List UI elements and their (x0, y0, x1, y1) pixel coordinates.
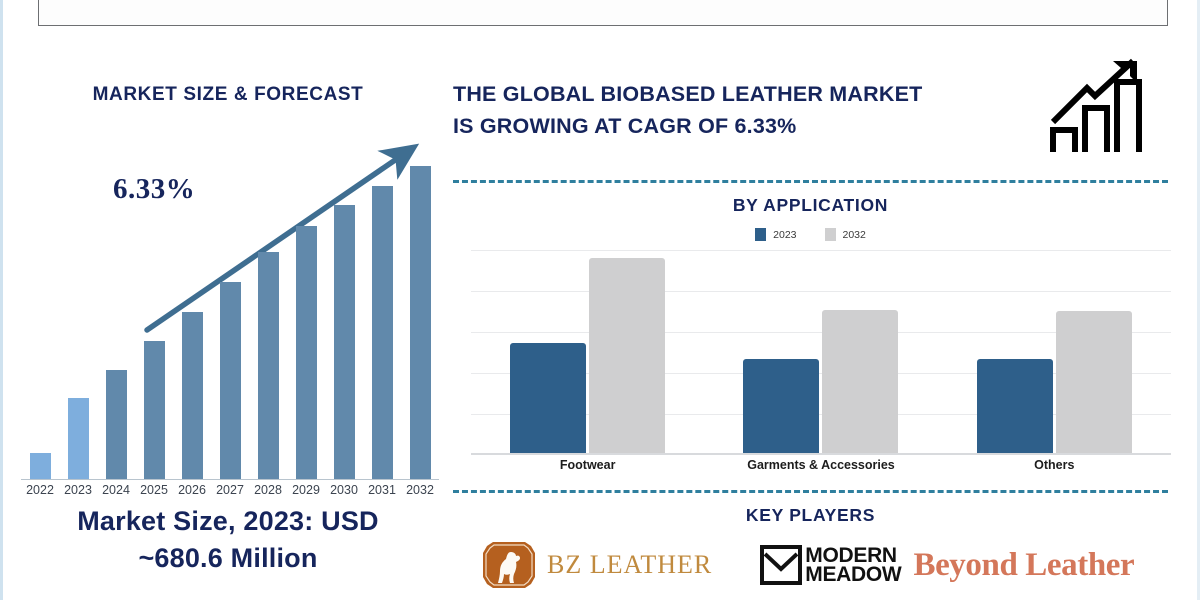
bar-slot (173, 312, 211, 479)
year-label: 2032 (401, 483, 439, 497)
key-players-logos: BZ LEATHER MODERN MEADOW Beyond Leather (453, 530, 1168, 600)
bz-leather-horse-shield-logo-icon (481, 540, 537, 590)
application-category-labels: Footwear Garments & Accessories Others (471, 458, 1171, 472)
legend-swatch-2032 (825, 228, 836, 241)
bar-slot (135, 341, 173, 479)
category-label-garments: Garments & Accessories (711, 458, 931, 472)
bar-slot (59, 398, 97, 479)
bar-footwear-2023 (510, 343, 586, 453)
legend-item-2023: 2023 (755, 228, 796, 241)
year-label: 2025 (135, 483, 173, 497)
growth-bar-chart-arrow-icon (1045, 52, 1153, 162)
beyond-leather-label: Beyond Leather (913, 547, 1134, 584)
market-size-value-line-2: ~680.6 Million (3, 543, 453, 574)
bar-group-garments-accessories (721, 310, 921, 454)
bar-slot (249, 252, 287, 478)
bar-2023 (68, 398, 89, 479)
modern-meadow-label: MODERN MEADOW (805, 546, 901, 584)
bar-slot (363, 186, 401, 478)
market-size-year-labels: 2022 2023 2024 2025 2026 2027 2028 2029 … (21, 483, 439, 497)
bz-leather-label: BZ LEATHER (547, 550, 712, 580)
year-label: 2022 (21, 483, 59, 497)
modern-meadow-label-line-2: MEADOW (805, 565, 901, 584)
bar-2029 (296, 226, 317, 478)
bar-2027 (220, 282, 241, 478)
market-size-forecast-panel: MARKET SIZE & FORECAST 6.33% (3, 28, 453, 600)
bar-slot (401, 166, 439, 479)
bar-2026 (182, 312, 203, 479)
legend-item-2032: 2032 (825, 228, 866, 241)
bar-2024 (106, 370, 127, 478)
bar-slot (211, 282, 249, 478)
bar-others-2023 (977, 359, 1053, 453)
bar-2022 (30, 453, 51, 479)
by-application-title: BY APPLICATION (453, 195, 1168, 216)
year-label: 2030 (325, 483, 363, 497)
bar-garments-2032 (822, 310, 898, 454)
bar-slot (325, 205, 363, 478)
divider-top (453, 180, 1168, 183)
cagr-headline-line-2: IS GROWING AT CAGR OF 6.33% (453, 110, 1053, 142)
modern-meadow-envelope-logo-icon (760, 545, 802, 585)
year-label: 2026 (173, 483, 211, 497)
year-label: 2024 (97, 483, 135, 497)
key-player-beyond-leather[interactable]: Beyond Leather (913, 547, 1134, 584)
bar-2028 (258, 252, 279, 478)
market-size-axis-line (21, 479, 439, 481)
divider-bottom (453, 490, 1168, 493)
category-label-footwear: Footwear (478, 458, 698, 472)
year-label: 2027 (211, 483, 249, 497)
year-label: 2028 (249, 483, 287, 497)
key-players-title: KEY PLAYERS (453, 505, 1168, 526)
legend-label-2032: 2032 (843, 229, 866, 241)
bar-slot (21, 453, 59, 479)
application-chart-legend: 2023 2032 (453, 228, 1168, 241)
year-label: 2023 (59, 483, 97, 497)
cagr-headline: THE GLOBAL BIOBASED LEATHER MARKET IS GR… (453, 78, 1053, 142)
application-bar-groups (471, 248, 1171, 453)
infographic-canvas: GLOBAL BIOBASED LEATHER MARKET MARKET SI… (0, 0, 1200, 600)
right-panel: THE GLOBAL BIOBASED LEATHER MARKET IS GR… (453, 0, 1200, 600)
legend-swatch-2023 (755, 228, 766, 241)
year-label: 2031 (363, 483, 401, 497)
market-size-bar-chart (21, 148, 439, 480)
bar-2030 (334, 205, 355, 478)
year-label: 2029 (287, 483, 325, 497)
market-size-value-line-1: Market Size, 2023: USD (3, 506, 453, 537)
bar-2032 (410, 166, 431, 479)
bar-slot (97, 370, 135, 478)
bar-garments-2023 (743, 359, 819, 453)
cagr-headline-line-1: THE GLOBAL BIOBASED LEATHER MARKET (453, 78, 1053, 110)
bar-2025 (144, 341, 165, 479)
bar-others-2032 (1056, 311, 1132, 453)
key-player-modern-meadow[interactable]: MODERN MEADOW (760, 545, 901, 585)
application-axis-line (471, 453, 1171, 455)
by-application-bar-chart (471, 248, 1171, 453)
bar-slot (287, 226, 325, 478)
market-size-forecast-heading: MARKET SIZE & FORECAST (3, 84, 453, 106)
bar-footwear-2032 (589, 258, 665, 453)
bar-group-others (954, 311, 1154, 453)
key-player-bz-leather[interactable]: BZ LEATHER (481, 540, 712, 590)
category-label-others: Others (944, 458, 1164, 472)
bar-2031 (372, 186, 393, 478)
legend-label-2023: 2023 (773, 229, 796, 241)
market-size-bars (21, 149, 439, 479)
bar-group-footwear (488, 258, 688, 453)
